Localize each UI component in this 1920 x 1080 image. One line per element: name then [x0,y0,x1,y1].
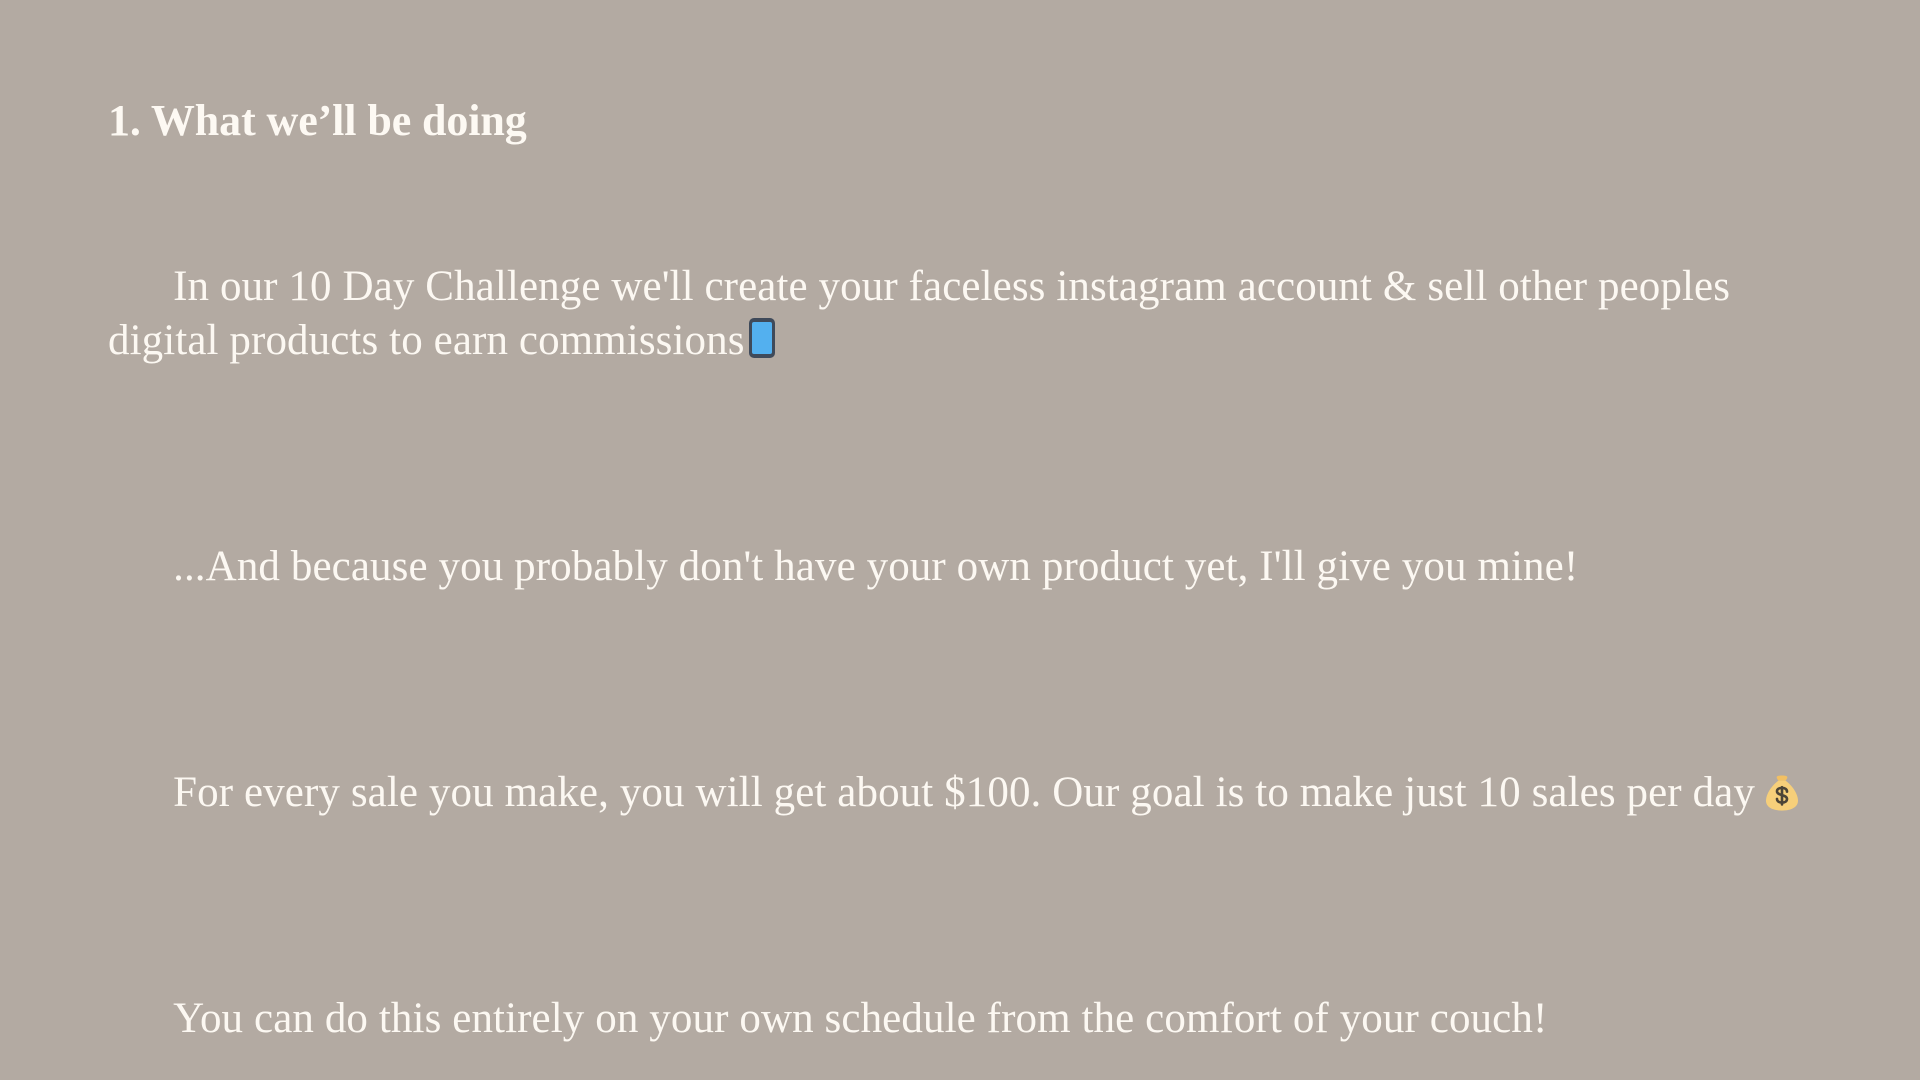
body-paragraph-3: For every sale you make, you will get ab… [108,712,1808,876]
paragraph-2-text: ...And because you probably don't have y… [173,543,1578,590]
body-paragraph-4: You can do this entirely on your own sch… [108,937,1808,1080]
slide-canvas: 1. What we’ll be doing In our 10 Day Cha… [0,0,1920,1080]
paragraph-1-text: In our 10 Day Challenge we'll create you… [108,263,1741,365]
mobile-phone-icon [749,318,775,358]
body-paragraph-1: In our 10 Day Challenge we'll create you… [108,205,1808,423]
body-paragraph-2: ...And because you probably don't have y… [108,486,1808,650]
page-title: 1. What we’ll be doing [108,96,1818,145]
money-bag-icon [1761,773,1803,813]
paragraph-3-text: For every sale you make, you will get ab… [173,769,1755,816]
paragraph-4-text: You can do this entirely on your own sch… [173,995,1547,1042]
slide-content: 1. What we’ll be doing In our 10 Day Cha… [108,96,1818,1080]
